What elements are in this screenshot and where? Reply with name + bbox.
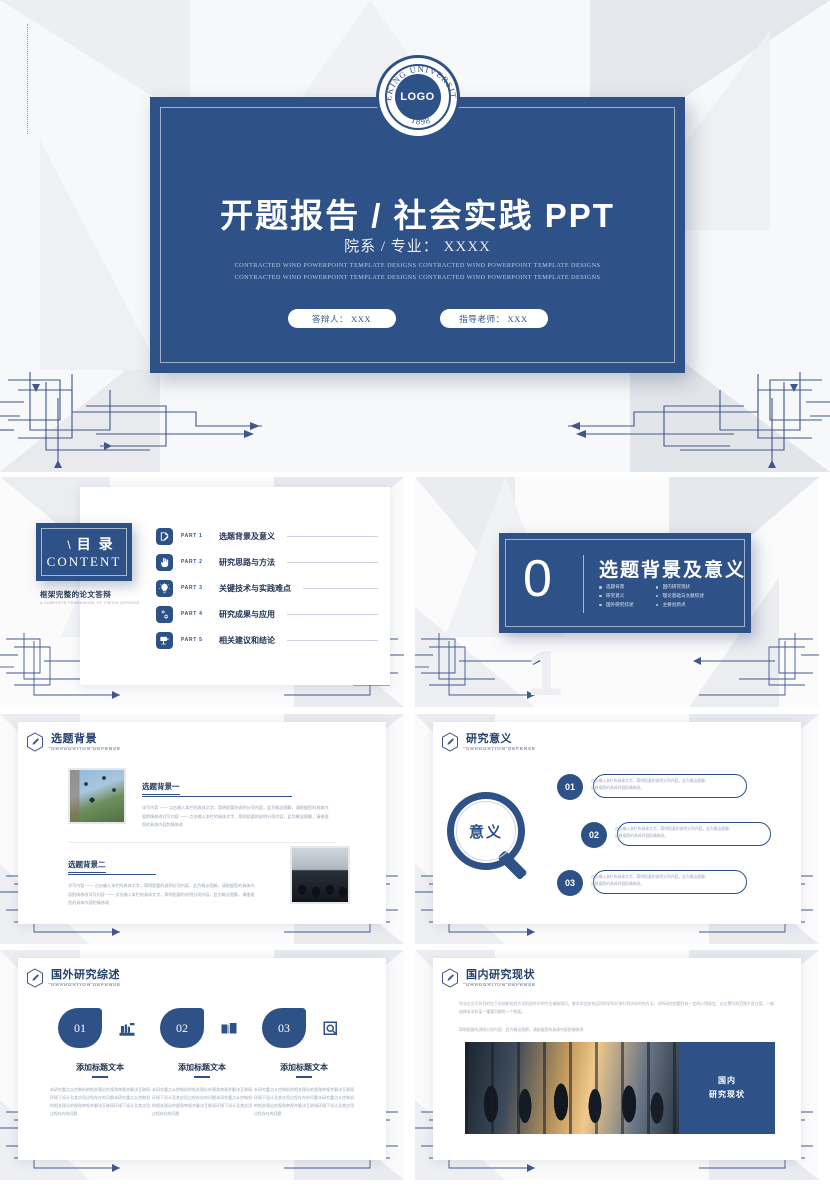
leaf-badge-1: 01 <box>58 1008 102 1048</box>
circuit-decor-right <box>560 372 830 472</box>
toc-rule <box>287 614 378 615</box>
dotted-vertical-line <box>27 24 28 134</box>
pen-hexagon-icon <box>441 968 459 988</box>
section-title: 选题背景及意义 <box>599 555 746 582</box>
badge-center-label: LOGO <box>395 74 441 120</box>
meaning-row-2: 02 点击输入本栏的具体文字，简明扼要的说明分项内容，此为概念图解，请根据您的具… <box>581 822 771 846</box>
row-text: 点击输入本栏的具体文字，简明扼要的说明分项内容，此为概念图解，请根据您的具体内容… <box>591 778 709 793</box>
toc-part-label: PART 2 <box>181 559 211 565</box>
circuit-decor-left <box>0 372 270 472</box>
header-underline <box>48 747 106 748</box>
section-body: 详写内容 —— 点击输入本栏的具体文字，简明扼要的说明分项内容，此为概念图解，请… <box>68 882 258 907</box>
slide-header: 研究意义 GRADUATION DEFENSE <box>441 732 536 752</box>
section-title: 选题背景二 <box>68 859 106 873</box>
background-section-2: 选题背景二 详写内容 —— 点击输入本栏的具体文字，简明扼要的说明分项内容，此为… <box>68 854 258 907</box>
open-book-icon <box>220 1020 238 1038</box>
section-title: 选题背景一 <box>142 781 180 795</box>
leaf-number: 01 <box>74 1021 86 1036</box>
toc-caption-zh: 框架完整的论文答辩 <box>40 589 140 600</box>
section-title-rule <box>142 796 292 797</box>
toc-item-4[interactable]: PART 4 研究成果与应用 <box>156 601 378 627</box>
magnifier-label: 意义 <box>447 792 525 870</box>
defender-pill[interactable]: 答辩人： XXX <box>288 309 396 328</box>
card-body-3: 本研究重点从控制机的相关理论的视角审视并解决互联网环境下设计及其应用过程存在的问… <box>254 1086 354 1118</box>
row-text: 点击输入本栏的具体文字，简明扼要的说明分项内容，此为概念图解，请根据您的具体内容… <box>615 826 733 841</box>
author-pill-row: 答辩人： XXX 指导老师： XXX <box>150 309 685 328</box>
gears-icon <box>156 606 173 623</box>
domestic-paragraph-1: 毕业论文写作目的在于总结和检验大学阶段所学的专业基础知识，基本学会综合运用所学知… <box>459 1000 775 1016</box>
slide-title-zh: 国内研究现状 <box>466 969 536 981</box>
toc-item-5[interactable]: PART 5 相关建议和结论 <box>156 627 378 653</box>
title-panel: PEKING UNIVERSITY 1898 LOGO 开题报告 / 社会实践 … <box>150 97 685 373</box>
section-title-rule <box>68 874 156 875</box>
row-number: 01 <box>557 774 583 800</box>
background-section-1: 选题背景一 详写内容 —— 点击输入本栏的具体文字，简明扼要的说明分项内容，此为… <box>142 776 332 829</box>
section-divider-slide: 1 0 选题背景及意义 选题背景 研究意义 国外研究综述 国内研究现状 理论基础… <box>415 477 819 707</box>
content-title-box: 目 录 CONTENT <box>36 523 132 581</box>
caption-line-1: 国内 <box>718 1074 736 1088</box>
card-title-rule <box>194 1076 210 1078</box>
page-title: 开题报告 / 社会实践 PPT <box>150 189 685 237</box>
domestic-paragraph-2: 简明扼要的说明分项内容，此为概念图解，请根据您的具体内容酌情修改 <box>459 1026 775 1034</box>
toc-item-3[interactable]: PART 3 关键技术与实践难点 <box>156 575 378 601</box>
card-title-1: 添加标题文本 <box>46 1062 154 1073</box>
toc-part-label: PART 3 <box>181 585 211 591</box>
photo-detail <box>70 770 124 822</box>
circuit-decor-right <box>689 633 819 703</box>
slide-header: 选题背景 GRADUATION DEFENSE <box>26 732 121 752</box>
background-slide: 选题背景 GRADUATION DEFENSE 选题背景一 详写内容 —— 点击… <box>0 714 404 944</box>
card-body-1: 本研究重点从控制机的相关理论的视角审视并解决互联网环境下设计及其应用过程存在的问… <box>50 1086 150 1118</box>
bullets-right: 国内研究现状 理论基础与文献综述 主要创新点 <box>656 583 704 610</box>
toc-list: PART 1 选题背景及意义 PART 2 研究思路与方法 PART 3 关键技… <box>156 523 378 653</box>
page-subtitle: 院系 / 专业： XXXX <box>150 235 685 256</box>
bullet-item: 国外研究综述 <box>599 601 634 610</box>
search-doc-icon <box>322 1020 340 1038</box>
slide-title-zh: 研究意义 <box>466 733 536 745</box>
leaf-badge-3: 03 <box>262 1008 306 1048</box>
toc-item-1[interactable]: PART 1 选题背景及意义 <box>156 523 378 549</box>
card-title-rule <box>92 1076 108 1078</box>
photo-detail <box>465 1042 679 1134</box>
ghost-section-number: 1 <box>527 641 563 705</box>
content-box-en: CONTENT <box>47 554 122 570</box>
section-divider-line <box>68 842 336 843</box>
photo-detail <box>292 848 348 902</box>
toc-item-2[interactable]: PART 2 研究思路与方法 <box>156 549 378 575</box>
toc-item-label: 研究思路与方法 <box>219 557 275 568</box>
meaning-row-1: 01 点击输入本栏的具体文字，简明扼要的说明分项内容，此为概念图解，请根据您的具… <box>557 774 747 798</box>
toc-item-label: 关键技术与实践难点 <box>219 583 291 594</box>
content-box-zh: 目 录 <box>67 534 114 554</box>
lightbulb-icon <box>156 580 173 597</box>
toc-rule <box>287 562 378 563</box>
photo-caption-panel: 国内 研究现状 <box>679 1042 775 1134</box>
graduation-caps-photo <box>68 768 126 824</box>
slide-title-zh: 选题背景 <box>51 733 121 745</box>
presentation-icon <box>156 632 173 649</box>
toc-part-label: PART 4 <box>181 611 211 617</box>
bookshelf-icon <box>118 1020 136 1038</box>
pen-hexagon-icon <box>26 732 44 752</box>
card-title-rule <box>296 1076 312 1078</box>
magnifier-graphic: 意义 <box>447 792 539 884</box>
slide-header: 国内研究现状 GRADUATION DEFENSE <box>441 968 536 988</box>
section-body: 详写内容 —— 点击输入本栏的具体文字，简明扼要的说明分项内容，此为概念图解，请… <box>142 804 332 829</box>
toc-item-label: 研究成果与应用 <box>219 609 275 620</box>
bullet-item: 选题背景 <box>599 583 634 592</box>
slide-title-zh: 国外研究综述 <box>51 969 121 981</box>
row-number: 02 <box>581 822 607 848</box>
foreign-research-slide: 国外研究综述 GRADUATION DEFENSE 01 添加标题文本 本研究重… <box>0 950 404 1180</box>
toc-part-label: PART 1 <box>181 533 211 539</box>
circuit-decor <box>415 633 545 703</box>
section-separator <box>583 555 584 613</box>
bullets-left: 选题背景 研究意义 国外研究综述 <box>599 583 634 610</box>
card-title-2: 添加标题文本 <box>148 1062 256 1073</box>
slide-header: 国外研究综述 GRADUATION DEFENSE <box>26 968 121 988</box>
toc-caption: 框架完整的论文答辩 A COMPLETE FRAMEWORK OF THESIS… <box>40 589 140 605</box>
slide-card <box>18 958 386 1160</box>
header-underline <box>463 983 533 984</box>
toc-slide: 目 录 CONTENT 框架完整的论文答辩 A COMPLETE FRAMEWO… <box>0 477 404 707</box>
airport-travelers-photo <box>465 1042 679 1134</box>
toc-item-label: 相关建议和结论 <box>219 635 275 646</box>
english-tagline: CONTRACTED WIND POWERPOINT TEMPLATE DESI… <box>220 260 615 283</box>
pen-hexagon-icon <box>26 968 44 988</box>
pen-square-icon <box>156 528 173 545</box>
graduates-row-photo <box>290 846 350 904</box>
pen-hexagon-icon <box>441 732 459 752</box>
leaf-number: 03 <box>278 1021 290 1036</box>
caption-line-2: 研究现状 <box>709 1088 745 1102</box>
row-text: 点击输入本栏的具体文字，简明扼要的说明分项内容，此为概念图解，请根据您的具体内容… <box>591 874 709 889</box>
bullet-item: 主要创新点 <box>656 601 704 610</box>
header-underline <box>48 983 118 984</box>
toc-caption-en: A COMPLETE FRAMEWORK OF THESIS DEFENSE <box>40 601 140 605</box>
section-panel: 0 选题背景及意义 选题背景 研究意义 国外研究综述 国内研究现状 理论基础与文… <box>499 533 751 633</box>
leaf-badge-2: 02 <box>160 1008 204 1048</box>
domestic-research-slide: 国内研究现状 GRADUATION DEFENSE 毕业论文写作目的在于总结和检… <box>415 950 819 1180</box>
advisor-pill[interactable]: 指导老师： XXX <box>440 309 548 328</box>
toc-part-label: PART 5 <box>181 637 211 643</box>
toc-rule <box>303 588 378 589</box>
bullet-item: 国内研究现状 <box>656 583 704 592</box>
hand-pointer-icon <box>156 554 173 571</box>
toc-item-label: 选题背景及意义 <box>219 531 275 542</box>
meaning-row-3: 03 点击输入本栏的具体文字，简明扼要的说明分项内容，此为概念图解，请根据您的具… <box>557 870 747 894</box>
card-title-3: 添加标题文本 <box>250 1062 358 1073</box>
meaning-slide: 研究意义 GRADUATION DEFENSE 意义 01 点击输入本栏的具体文… <box>415 714 819 944</box>
row-number: 03 <box>557 870 583 896</box>
leaf-number: 02 <box>176 1021 188 1036</box>
header-underline <box>463 747 509 748</box>
university-logo-badge: PEKING UNIVERSITY 1898 LOGO <box>376 55 460 139</box>
section-number: 0 <box>523 553 552 605</box>
card-body-2: 本研究重点从控制机的相关理论的视角审视并解决互联网环境下设计及其应用过程存在的问… <box>152 1086 252 1118</box>
toc-rule <box>287 536 378 537</box>
bullet-item: 理论基础与文献综述 <box>656 592 704 601</box>
section-bullets: 选题背景 研究意义 国外研究综述 国内研究现状 理论基础与文献综述 主要创新点 <box>599 583 704 610</box>
title-slide: PEKING UNIVERSITY 1898 LOGO 开题报告 / 社会实践 … <box>0 0 830 472</box>
toc-rule <box>287 640 378 641</box>
bullet-item: 研究意义 <box>599 592 634 601</box>
